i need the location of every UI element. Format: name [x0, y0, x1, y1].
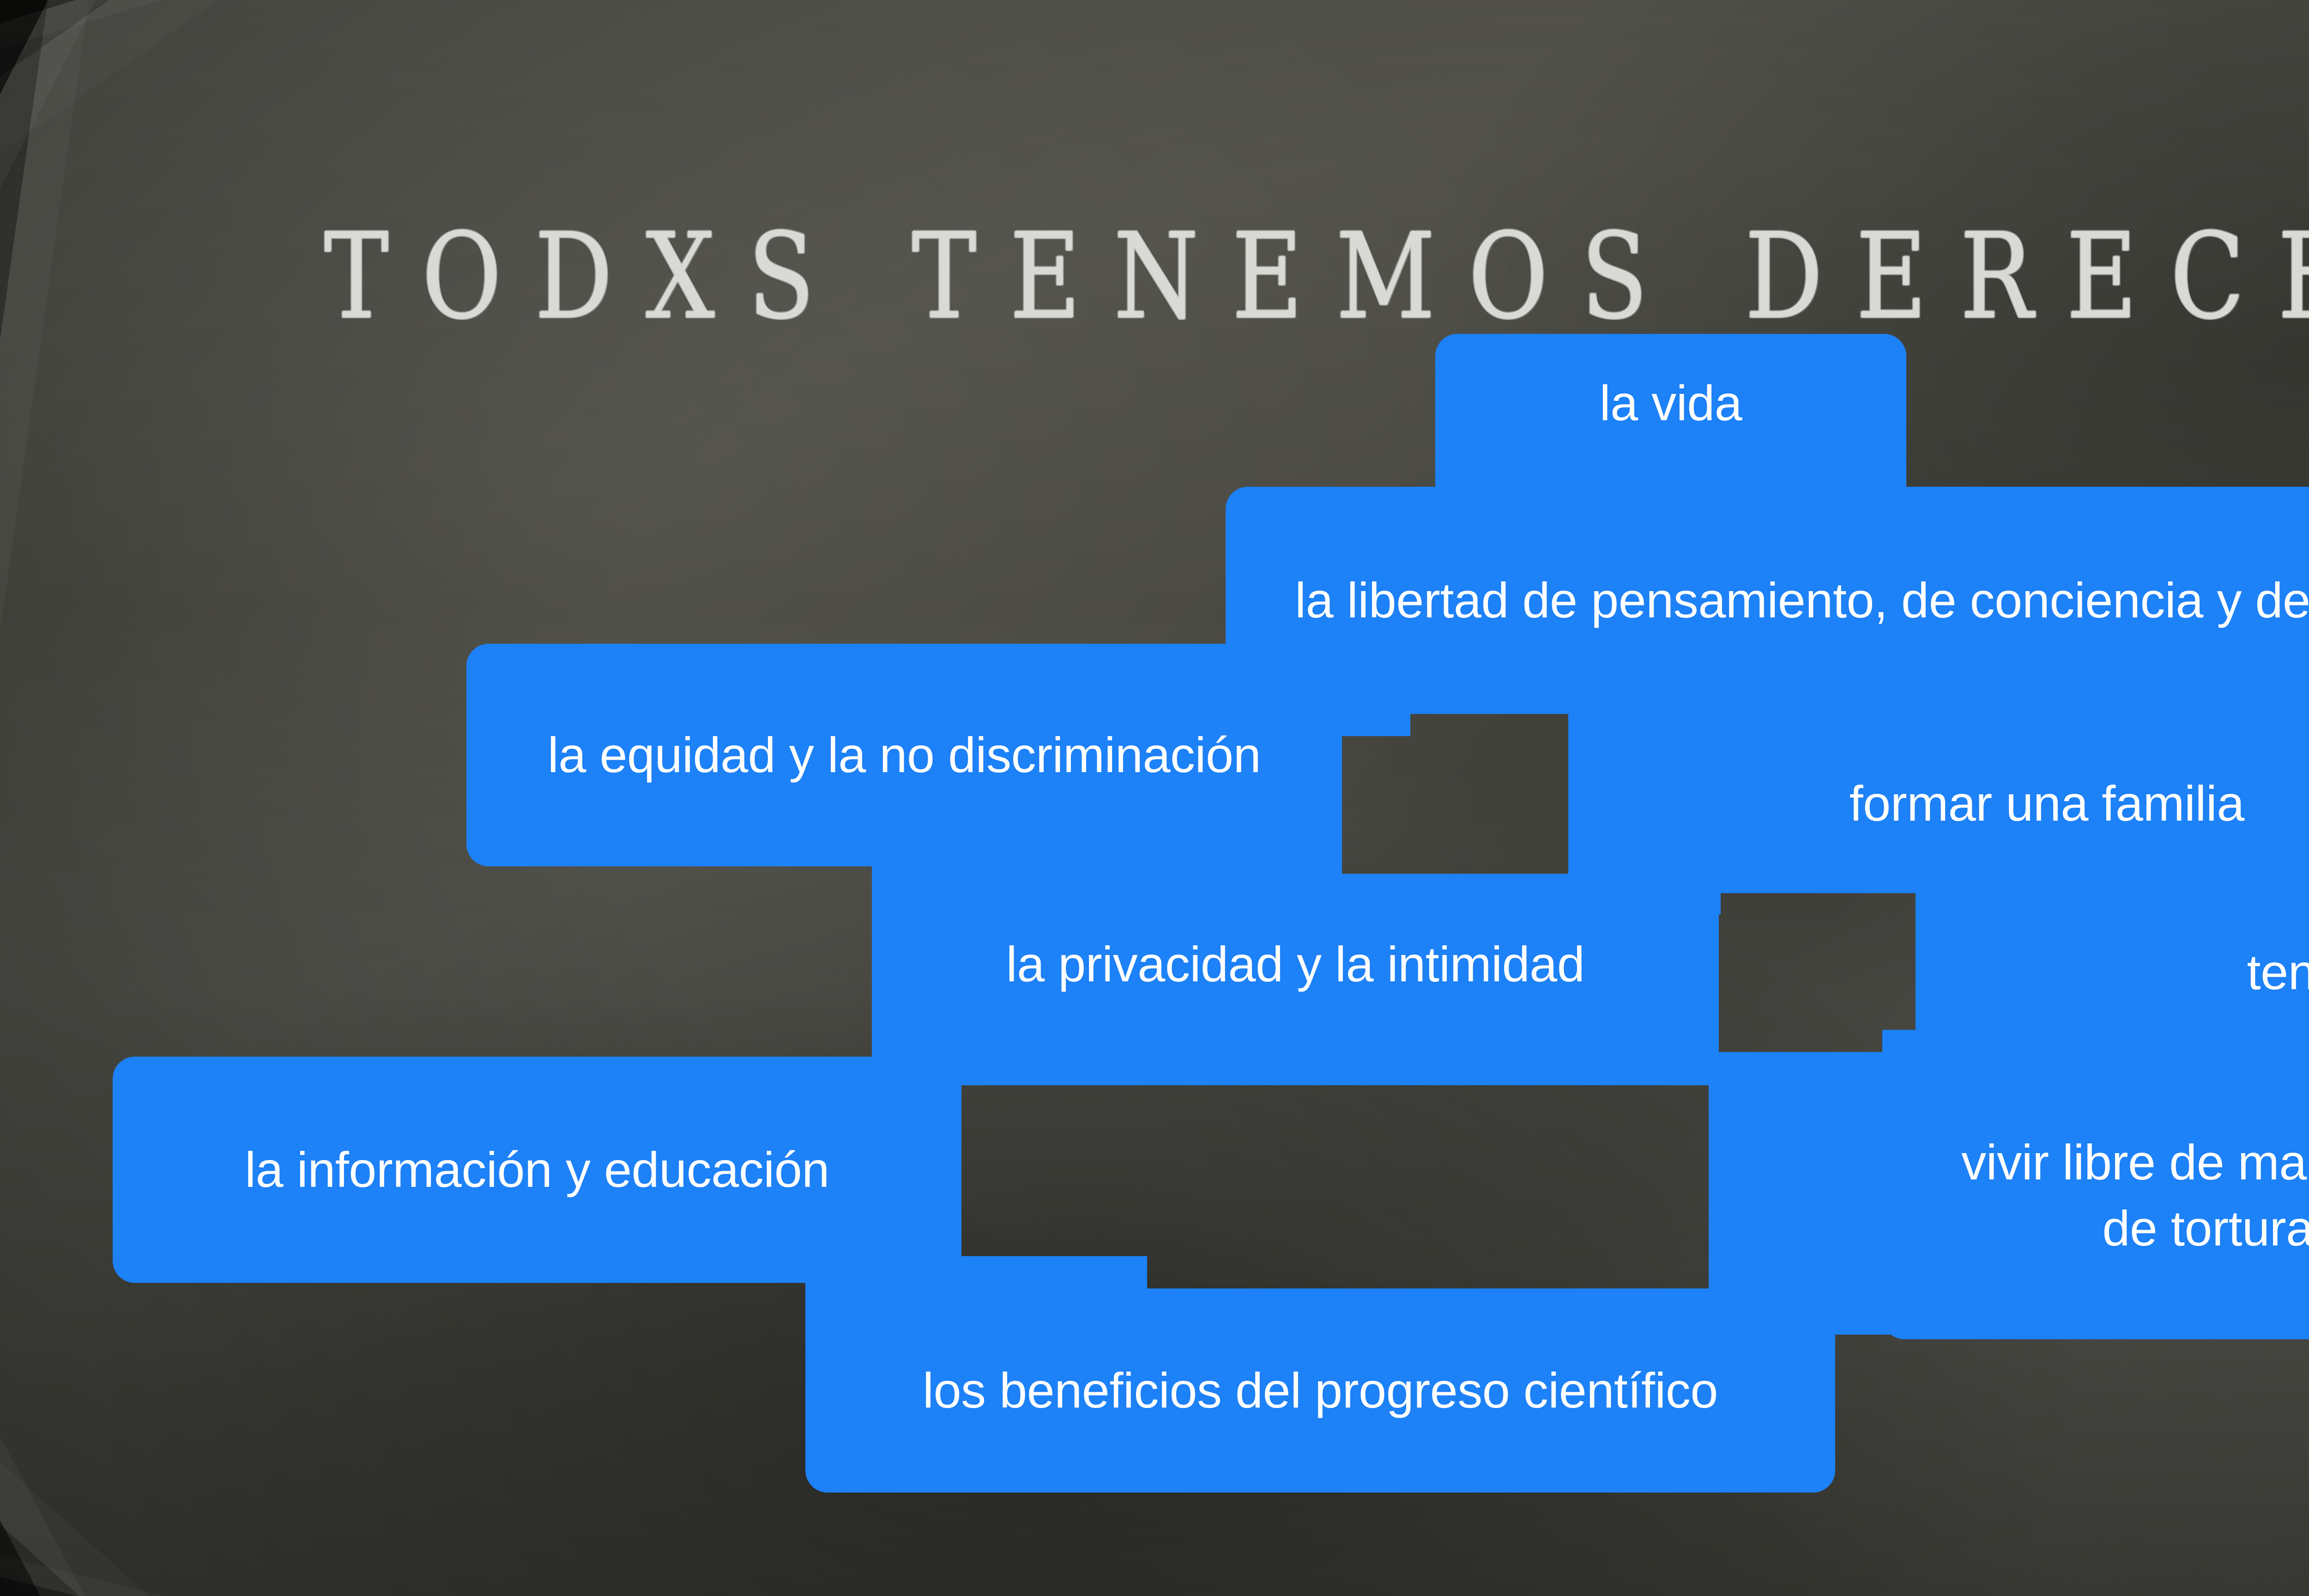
- right-card-label: la privacidad y la intimidad: [950, 931, 1640, 997]
- right-card-vida[interactable]: la vida: [1435, 334, 1906, 472]
- right-card-label: los beneficios del progreso científico: [893, 1358, 1747, 1424]
- right-card-equidad[interactable]: la equidad y la no discriminación: [466, 644, 1342, 866]
- right-card-label: la libertad de pensamiento, de concienci…: [1286, 568, 2309, 634]
- poster-canvas: TODXS TENEMOS DERECHO A... la vida la li…: [0, 0, 2309, 1596]
- right-card-label: la equidad y la no discriminación: [536, 722, 1273, 788]
- right-card-vivir[interactable]: vivir libre de maltrato y de tortura: [1882, 1052, 2309, 1339]
- right-card-libertad[interactable]: la libertad de pensamiento, de concienci…: [1226, 487, 2309, 714]
- right-card-privacidad[interactable]: la privacidad y la intimidad: [872, 874, 1719, 1055]
- right-card-label: la información y educación: [196, 1137, 878, 1203]
- page-title: TODXS TENEMOS DERECHO A...: [0, 218, 2309, 336]
- right-card-informacion[interactable]: la información y educación: [113, 1057, 961, 1283]
- right-card-label: tener hijos o no hacerlo: [1998, 939, 2309, 1005]
- right-card-beneficios[interactable]: los beneficios del progreso científico: [805, 1288, 1835, 1493]
- right-card-hijos[interactable]: tener hijos o no hacerlo: [1916, 891, 2309, 1053]
- right-card-label: vivir libre de maltrato y de tortura: [1952, 1130, 2309, 1261]
- right-card-label: la vida: [1480, 370, 1862, 436]
- right-card-label: formar una familia: [1650, 771, 2244, 837]
- right-card-familia[interactable]: formar una familia: [1568, 714, 2309, 893]
